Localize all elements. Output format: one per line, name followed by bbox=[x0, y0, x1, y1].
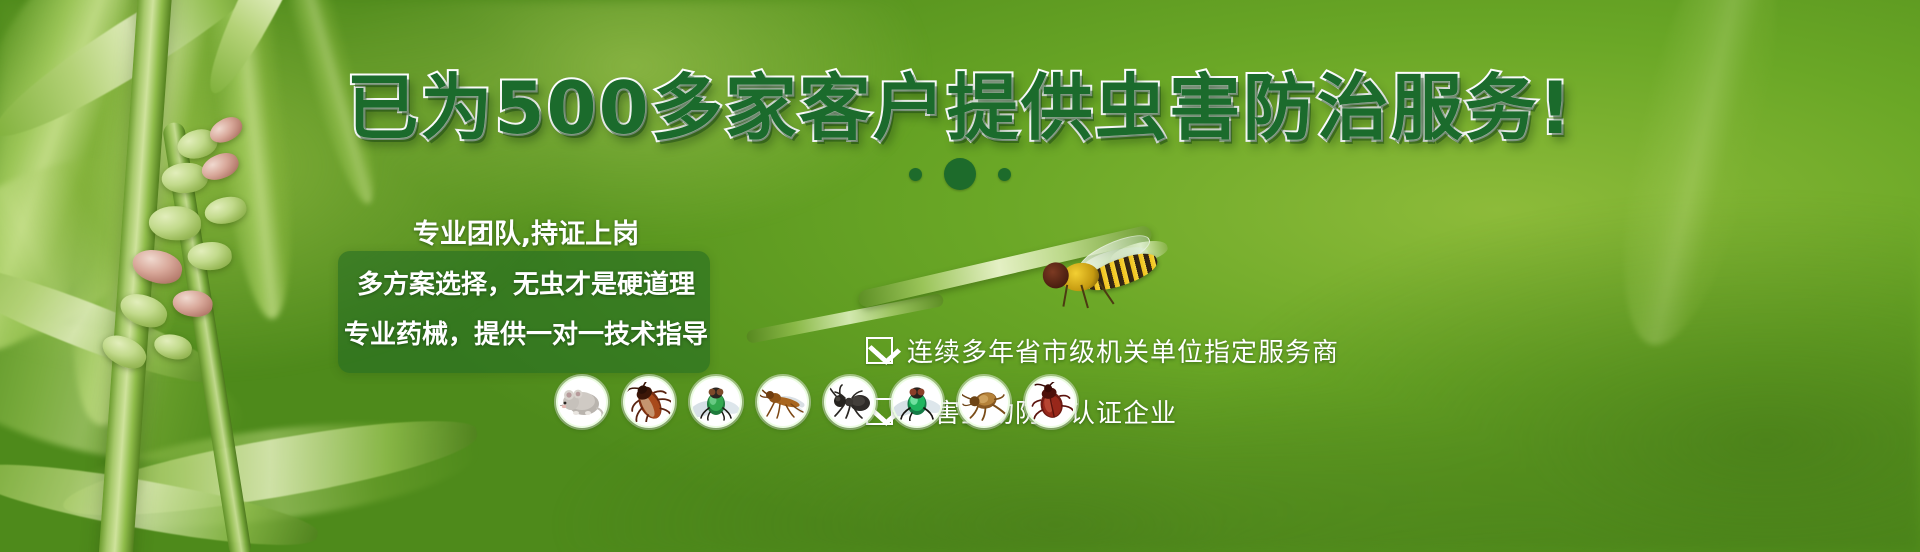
decor-dot-large-center bbox=[944, 158, 976, 190]
ant-icon[interactable] bbox=[824, 376, 876, 428]
fly-icon[interactable] bbox=[690, 376, 742, 428]
checklist-item-label: 连续多年省市级机关单位指定服务商 bbox=[907, 332, 1339, 369]
bedbug-icon[interactable] bbox=[1025, 376, 1077, 428]
copy-line-2: 多方案选择，无虫才是硬道理 bbox=[357, 264, 695, 301]
decor-dot-small-left bbox=[909, 168, 922, 181]
greenbottle-fly-icon[interactable] bbox=[891, 376, 943, 428]
mosquito-icon[interactable] bbox=[757, 376, 809, 428]
copy-line-1: 专业团队,持证上岗 bbox=[413, 212, 639, 251]
flower-bud bbox=[187, 241, 233, 272]
decor-dot-small-right bbox=[998, 168, 1011, 181]
checklist-item: 连续多年省市级机关单位指定服务商 bbox=[866, 332, 1339, 369]
flower-bud bbox=[152, 332, 194, 362]
copy-panel: 专业团队,持证上岗 多方案选择，无虫才是硬道理 专业药械，提供一对一技术指导 bbox=[330, 212, 722, 351]
banner-headline: 已为500多家客户提供虫害防治服务! bbox=[0, 72, 1920, 144]
flower-bud bbox=[149, 206, 201, 240]
flea-icon[interactable] bbox=[958, 376, 1010, 428]
cockroach-icon[interactable] bbox=[623, 376, 675, 428]
decorative-dots bbox=[0, 158, 1920, 190]
hoverfly-leg bbox=[1062, 285, 1068, 307]
pest-control-banner: 已为500多家客户提供虫害防治服务! 专业团队,持证上岗 多方案选择，无虫才是硬… bbox=[0, 0, 1920, 552]
checkbox-checked-icon bbox=[866, 337, 893, 364]
flower-bud bbox=[202, 193, 249, 228]
copy-line-3: 专业药械，提供一对一技术指导 bbox=[344, 314, 708, 351]
pest-icon-row bbox=[556, 376, 1077, 428]
banner-headline-text: 已为500多家客户提供虫害防治服务! bbox=[346, 72, 1573, 144]
mouse-icon[interactable] bbox=[556, 376, 608, 428]
flower-bud bbox=[172, 289, 214, 318]
